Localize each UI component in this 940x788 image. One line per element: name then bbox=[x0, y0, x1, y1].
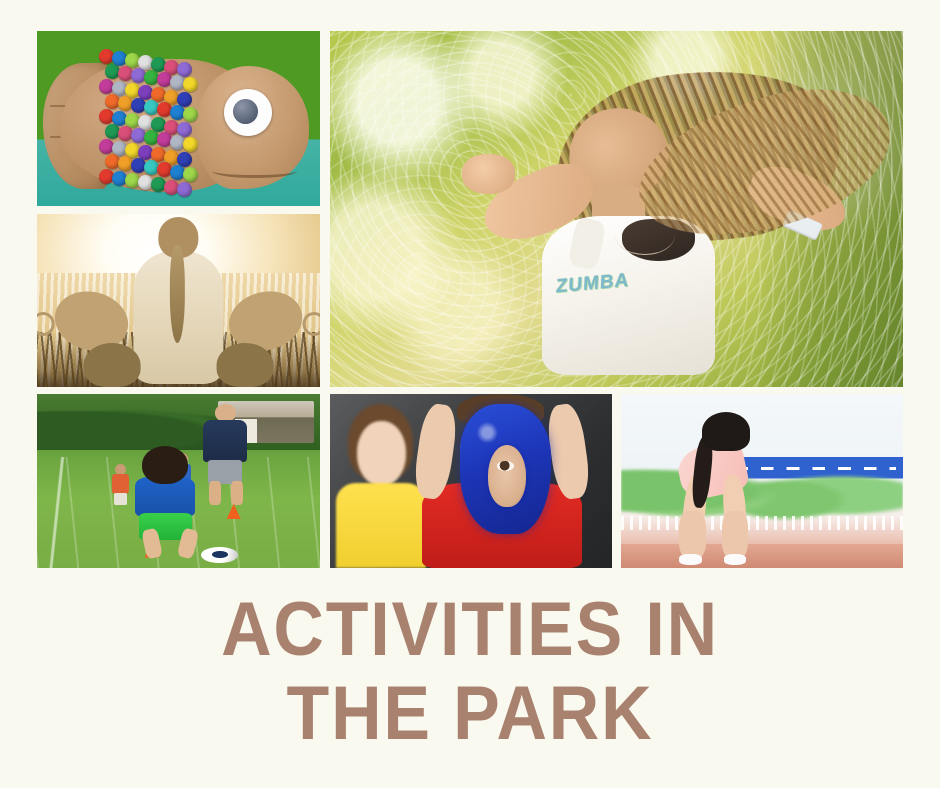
photo-zumba-dancer: ZUMBA bbox=[330, 31, 903, 387]
title-line-one: ACTIVITIES IN bbox=[38, 588, 903, 672]
poster-canvas: ZUMBA bbox=[0, 0, 940, 788]
woman-right-hand-mudra bbox=[302, 312, 320, 336]
runner-right-leg bbox=[722, 511, 748, 559]
coach-navy-shirt bbox=[203, 420, 247, 462]
slime-scene bbox=[330, 394, 612, 568]
child-eye-through-slime bbox=[497, 461, 514, 471]
child-red-shirt bbox=[415, 397, 590, 568]
fish-sequin-scales bbox=[99, 49, 246, 200]
soccer-scene bbox=[37, 394, 320, 568]
photo-clay-fish-craft bbox=[37, 31, 320, 206]
soccer-coach bbox=[201, 404, 249, 505]
craft-scene bbox=[37, 31, 320, 206]
runner-right-shoe bbox=[724, 554, 746, 564]
background-girl-shirt bbox=[336, 483, 426, 568]
poster-title: ACTIVITIES IN THE PARK bbox=[0, 588, 940, 756]
photo-soccer-practice bbox=[37, 394, 320, 568]
runner-left-leg bbox=[679, 511, 705, 559]
girl-hair bbox=[142, 446, 188, 484]
background-player-orange bbox=[111, 464, 131, 506]
player-body bbox=[112, 474, 129, 494]
dancer-fist bbox=[462, 154, 515, 194]
title-line-two: THE PARK bbox=[38, 672, 903, 756]
photo-meditation-sunset bbox=[37, 214, 320, 387]
photo-running-track bbox=[621, 394, 903, 568]
slime-face-opening bbox=[488, 445, 526, 506]
coach-left-leg bbox=[209, 481, 222, 505]
dancing-woman: ZUMBA bbox=[502, 81, 834, 387]
background-girl-yellow-shirt bbox=[336, 404, 426, 568]
dance-scene: ZUMBA bbox=[330, 31, 903, 387]
background-girl-face bbox=[357, 421, 406, 486]
runner-left-shoe bbox=[679, 554, 701, 564]
woman-left-leg bbox=[83, 343, 140, 387]
player-legs bbox=[114, 493, 127, 506]
meditation-scene bbox=[37, 214, 320, 387]
coach-right-leg bbox=[231, 481, 244, 505]
photo-collage: ZUMBA bbox=[0, 0, 940, 580]
running-scene bbox=[621, 394, 903, 568]
girl-kicking-ball bbox=[130, 446, 204, 557]
girl-at-starting-line bbox=[677, 415, 779, 565]
meditating-woman-silhouette bbox=[119, 217, 238, 387]
woman-right-leg bbox=[217, 343, 274, 387]
photo-blue-slime-play bbox=[330, 394, 612, 568]
soccer-ball bbox=[201, 547, 238, 563]
runner-hair bbox=[702, 412, 751, 451]
